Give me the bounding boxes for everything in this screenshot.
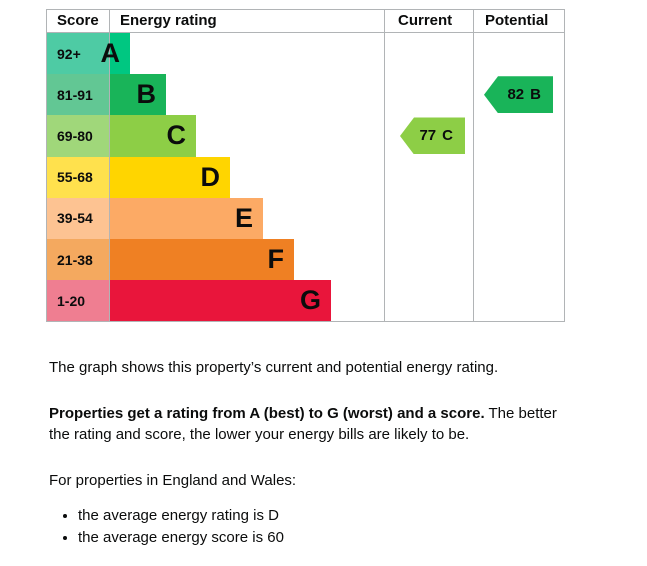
header-cell-potential: Potential	[473, 10, 564, 32]
band-row-a: 92+A	[47, 33, 564, 74]
band-row-f: 21-38F	[47, 239, 564, 280]
band-row-d: 55-68D	[47, 157, 564, 198]
score-range-label: 21-38	[47, 239, 109, 280]
rating-cell-a: A	[109, 33, 384, 74]
rating-bar-letter: D	[201, 164, 221, 191]
rating-bar-b: B	[110, 74, 166, 115]
rating-cell-d: D	[109, 157, 384, 198]
score-cell-b: 81-91	[47, 74, 109, 115]
potential-cell-d	[473, 157, 564, 198]
rating-bar-letter: G	[300, 287, 321, 314]
rating-bar-letter: A	[101, 40, 121, 67]
score-range-label: 55-68	[47, 157, 109, 198]
score-cell-f: 21-38	[47, 239, 109, 280]
potential-cell-g	[473, 280, 564, 321]
rating-cell-c: C	[109, 115, 384, 156]
paragraph-rating-explanation: Properties get a rating from A (best) to…	[49, 403, 569, 445]
rating-cell-g: G	[109, 280, 384, 321]
score-cell-e: 39-54	[47, 198, 109, 239]
potential-band-letter: B	[530, 86, 541, 103]
list-item: the average energy rating is D	[78, 505, 284, 527]
current-band-letter: C	[442, 127, 453, 144]
current-cell-g	[384, 280, 473, 321]
paragraph-region-intro: For properties in England and Wales:	[49, 470, 579, 491]
score-range-label: 39-54	[47, 198, 109, 239]
score-cell-d: 55-68	[47, 157, 109, 198]
potential-cell-c	[473, 115, 564, 156]
rating-explanation-bold: Properties get a rating from A (best) to…	[49, 405, 485, 422]
band-row-c: 69-80C77C	[47, 115, 564, 156]
potential-score-value: 82	[507, 86, 524, 103]
band-row-e: 39-54E	[47, 198, 564, 239]
rating-bar-letter: C	[167, 122, 187, 149]
rating-cell-e: E	[109, 198, 384, 239]
paragraph-graph-description: The graph shows this property’s current …	[49, 357, 579, 378]
current-cell-f	[384, 239, 473, 280]
column-header-potential: Potential	[474, 10, 548, 32]
header-cell-current: Current	[384, 10, 473, 32]
rating-bar-f: F	[110, 239, 294, 280]
potential-cell-e	[473, 198, 564, 239]
score-range-label: 1-20	[47, 280, 109, 321]
rating-bar-letter: E	[235, 205, 253, 232]
score-cell-c: 69-80	[47, 115, 109, 156]
rating-bar-d: D	[110, 157, 230, 198]
potential-rating-badge: 82B	[484, 76, 553, 113]
current-cell-e	[384, 198, 473, 239]
current-rating-badge: 77C	[400, 117, 465, 154]
score-cell-g: 1-20	[47, 280, 109, 321]
rating-bar-e: E	[110, 198, 263, 239]
rating-bar-letter: F	[268, 246, 285, 273]
current-cell-a	[384, 33, 473, 74]
rating-bar-g: G	[110, 280, 331, 321]
column-header-current: Current	[385, 10, 452, 32]
band-rows: 92+A81-91B82B69-80C77C55-68D39-54E21-38F…	[47, 33, 564, 321]
epc-certificate: Score Energy rating Current Potential 92…	[0, 0, 647, 566]
band-row-g: 1-20G	[47, 280, 564, 321]
header-cell-rating: Energy rating	[109, 10, 384, 32]
rating-cell-b: B	[109, 74, 384, 115]
score-range-label: 81-91	[47, 74, 109, 115]
rating-cell-f: F	[109, 239, 384, 280]
rating-bar-c: C	[110, 115, 196, 156]
score-range-label: 69-80	[47, 115, 109, 156]
potential-cell-b: 82B	[473, 74, 564, 115]
rating-bar-letter: B	[137, 81, 157, 108]
table-header-row: Score Energy rating Current Potential	[47, 10, 564, 33]
average-stats-list: the average energy rating is Dthe averag…	[49, 505, 284, 549]
rating-bar-a: A	[110, 33, 130, 74]
column-header-energy-rating: Energy rating	[110, 10, 217, 32]
potential-cell-f	[473, 239, 564, 280]
current-cell-d	[384, 157, 473, 198]
header-cell-score: Score	[47, 10, 109, 32]
band-row-b: 81-91B82B	[47, 74, 564, 115]
list-item: the average energy score is 60	[78, 527, 284, 549]
column-header-score: Score	[47, 10, 99, 32]
potential-cell-a	[473, 33, 564, 74]
current-cell-c: 77C	[384, 115, 473, 156]
current-score-value: 77	[419, 127, 436, 144]
energy-rating-table: Score Energy rating Current Potential 92…	[46, 9, 565, 322]
current-cell-b	[384, 74, 473, 115]
